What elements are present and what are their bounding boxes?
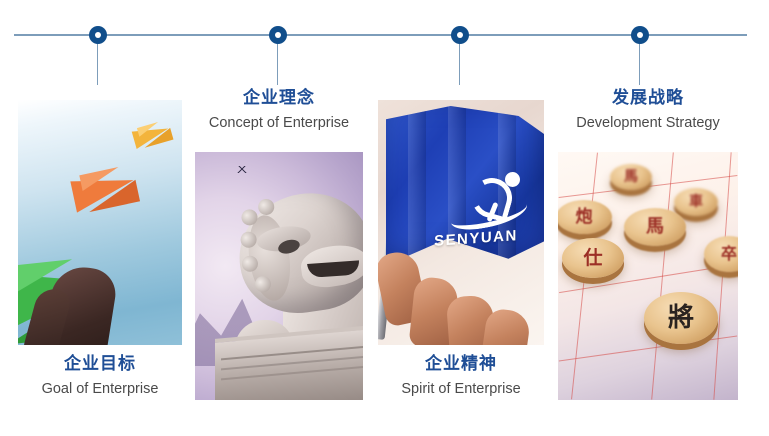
timeline-dot-icon-1[interactable] [89, 26, 107, 44]
lion-head [231, 185, 363, 320]
lion-curl [257, 198, 275, 216]
xiangqi-piece: 卒 [704, 236, 738, 272]
paper-plane-orange-icon [64, 162, 151, 227]
card-image-development-strategy: 馬 車 炮 馬 仕 卒 將 [558, 152, 738, 400]
card-image-concept-of-enterprise [195, 152, 363, 400]
card-caption-development-strategy: 发展战略 Development Strategy [558, 90, 738, 131]
xiangqi-piece-focus: 將 [644, 292, 718, 344]
xiangqi-piece: 仕 [562, 238, 624, 278]
timeline-dot-icon-3[interactable] [451, 26, 469, 44]
xiangqi-piece: 馬 [610, 164, 652, 190]
card-image-spirit-of-enterprise: SENYUAN [378, 100, 544, 345]
xiangqi-piece: 馬 [624, 208, 686, 246]
xiangqi-piece: 車 [674, 188, 718, 216]
card-concept-of-enterprise[interactable]: 企业理念 Concept of Enterprise [195, 90, 363, 400]
xiangqi-piece: 炮 [558, 200, 612, 234]
board-line [713, 152, 731, 399]
artwork-company-flag: SENYUAN [378, 100, 544, 345]
card-title-cn-goal: 企业目标 [18, 356, 182, 373]
timeline-dot-icon-4[interactable] [631, 26, 649, 44]
infographic-root: 企业目标 Goal of Enterprise 企业理念 Concept of … [0, 0, 769, 436]
card-goal-of-enterprise[interactable]: 企业目标 Goal of Enterprise [18, 100, 182, 400]
card-image-goal-of-enterprise [18, 100, 182, 345]
paper-plane-yellow-icon [127, 118, 178, 156]
card-title-en-strategy: Development Strategy [558, 116, 738, 131]
card-title-cn-concept: 企业理念 [195, 90, 363, 107]
timeline-dot-icon-2[interactable] [269, 26, 287, 44]
flag-fold [408, 106, 426, 272]
artwork-paper-planes [18, 100, 182, 345]
bird-icon [235, 166, 249, 173]
artwork-stone-lion [195, 152, 363, 400]
card-title-cn-strategy: 发展战略 [558, 90, 738, 107]
card-spirit-of-enterprise[interactable]: SENYUAN 企业精神 Spirit of Enterprise [378, 100, 544, 400]
card-development-strategy[interactable]: 发展战略 Development Strategy 馬 車 炮 [558, 90, 738, 400]
card-caption-concept-of-enterprise: 企业理念 Concept of Enterprise [195, 90, 363, 131]
board-line [559, 335, 737, 361]
carved-stone-base [215, 325, 363, 400]
artwork-xiangqi-board: 馬 車 炮 馬 仕 卒 將 [558, 152, 738, 400]
senyuan-logo-icon [448, 172, 532, 232]
card-title-en-goal: Goal of Enterprise [18, 382, 182, 397]
card-title-cn-spirit: 企业精神 [378, 356, 544, 373]
card-caption-goal-of-enterprise: 企业目标 Goal of Enterprise [18, 356, 182, 397]
card-title-en-spirit: Spirit of Enterprise [378, 382, 544, 397]
card-caption-spirit-of-enterprise: 企业精神 Spirit of Enterprise [378, 356, 544, 397]
card-title-en-concept: Concept of Enterprise [195, 116, 363, 131]
